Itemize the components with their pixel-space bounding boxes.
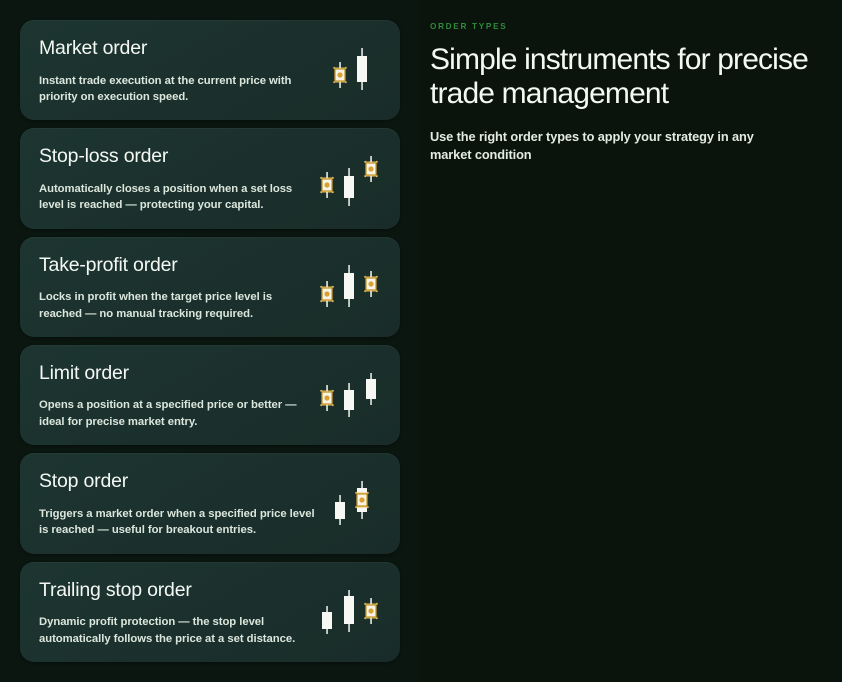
order-type-card-take-profit-order[interactable]: Take-profit order Locks in profit when t… <box>20 237 400 337</box>
candlestick-chart-icon <box>316 469 386 537</box>
card-title: Take-profit order <box>39 254 329 276</box>
card-title: Trailing stop order <box>39 579 329 601</box>
candlestick-chart-icon <box>316 361 386 429</box>
order-type-card-trailing-stop-order[interactable]: Trailing stop order Dynamic profit prote… <box>20 562 400 662</box>
page-title: Simple instruments for precise trade man… <box>430 43 810 110</box>
order-type-card-market-order[interactable]: Market order Instant trade execution at … <box>20 20 400 120</box>
page-subtitle: Use the right order types to apply your … <box>430 128 760 164</box>
order-type-card-stop-order[interactable]: Stop order Triggers a market order when … <box>20 453 400 553</box>
card-description: Opens a position at a specified price or… <box>39 397 317 430</box>
candlestick-chart-icon <box>316 578 386 646</box>
section-eyebrow-label: ORDER TYPES <box>430 22 820 31</box>
order-type-card-limit-order[interactable]: Limit order Opens a position at a specif… <box>20 345 400 445</box>
order-type-card-list: Market order Instant trade execution at … <box>0 0 420 682</box>
order-types-page: Market order Instant trade execution at … <box>0 0 842 682</box>
order-type-card-stop-loss-order[interactable]: Stop-loss order Automatically closes a p… <box>20 128 400 228</box>
card-title: Stop-loss order <box>39 145 329 167</box>
candlestick-chart-icon <box>316 144 386 212</box>
candlestick-chart-icon <box>316 253 386 321</box>
card-description: Automatically closes a position when a s… <box>39 181 317 214</box>
card-title: Limit order <box>39 362 329 384</box>
card-description: Triggers a market order when a specified… <box>39 506 317 539</box>
order-types-detail-panel: ORDER TYPES Simple instruments for preci… <box>420 0 842 682</box>
card-description: Instant trade execution at the current p… <box>39 73 317 106</box>
candlestick-chart-icon <box>316 36 386 104</box>
card-description: Locks in profit when the target price le… <box>39 289 317 322</box>
card-title: Market order <box>39 37 329 59</box>
card-description: Dynamic profit protection — the stop lev… <box>39 614 317 647</box>
card-title: Stop order <box>39 470 329 492</box>
